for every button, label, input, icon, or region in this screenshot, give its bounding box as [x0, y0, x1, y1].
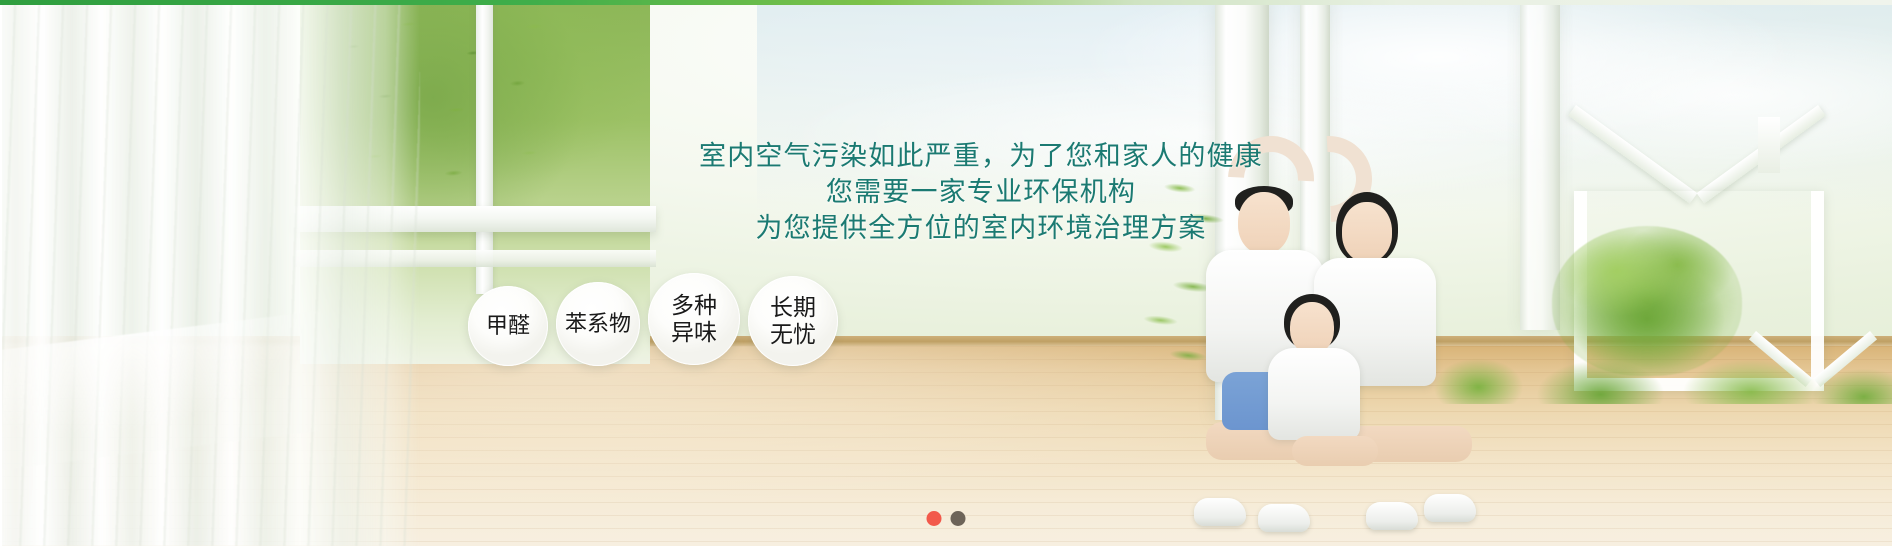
badge-long-term-worry-free-line-2: 无忧 — [770, 321, 816, 347]
shoe — [1366, 502, 1418, 530]
badge-multiple-odors[interactable]: 多种 异味 — [648, 273, 740, 365]
left-edge-mask — [0, 5, 2, 546]
badge-formaldehyde[interactable]: 甲醛 — [468, 286, 548, 366]
mother-head — [1342, 202, 1392, 262]
badge-benzene-series[interactable]: 苯系物 — [556, 282, 640, 366]
badge-long-term-worry-free-line-1: 长期 — [770, 294, 816, 320]
carousel-dot-1[interactable] — [927, 511, 942, 526]
badge-formaldehyde-line-1: 甲醛 — [486, 313, 530, 338]
hero-banner: 室内空气污染如此严重，为了您和家人的健康 您需要一家专业环保机构 为您提供全方位… — [0, 0, 1892, 546]
feature-badge-group: 甲醛 苯系物 多种 异味 长期 无忧 — [468, 272, 838, 366]
father-head — [1238, 192, 1290, 254]
shoe — [1258, 504, 1310, 532]
badge-multiple-odors-line-2: 异味 — [671, 319, 717, 345]
carousel-dot-2[interactable] — [951, 511, 966, 526]
house-chimney — [1758, 117, 1780, 173]
child-head — [1290, 302, 1334, 354]
carousel-dots — [927, 511, 966, 526]
shoe — [1194, 498, 1246, 526]
shoe — [1424, 494, 1476, 522]
curtain-folds — [0, 0, 420, 546]
family-of-three-photo — [1110, 126, 1530, 546]
child-shirt — [1268, 348, 1360, 440]
badge-multiple-odors-line-1: 多种 — [671, 292, 717, 318]
top-accent-strip — [0, 0, 1892, 5]
badge-benzene-series-line-1: 苯系物 — [565, 311, 631, 336]
badge-long-term-worry-free[interactable]: 长期 无忧 — [748, 276, 838, 366]
sheer-curtain — [0, 0, 420, 546]
child-leg — [1292, 436, 1378, 466]
